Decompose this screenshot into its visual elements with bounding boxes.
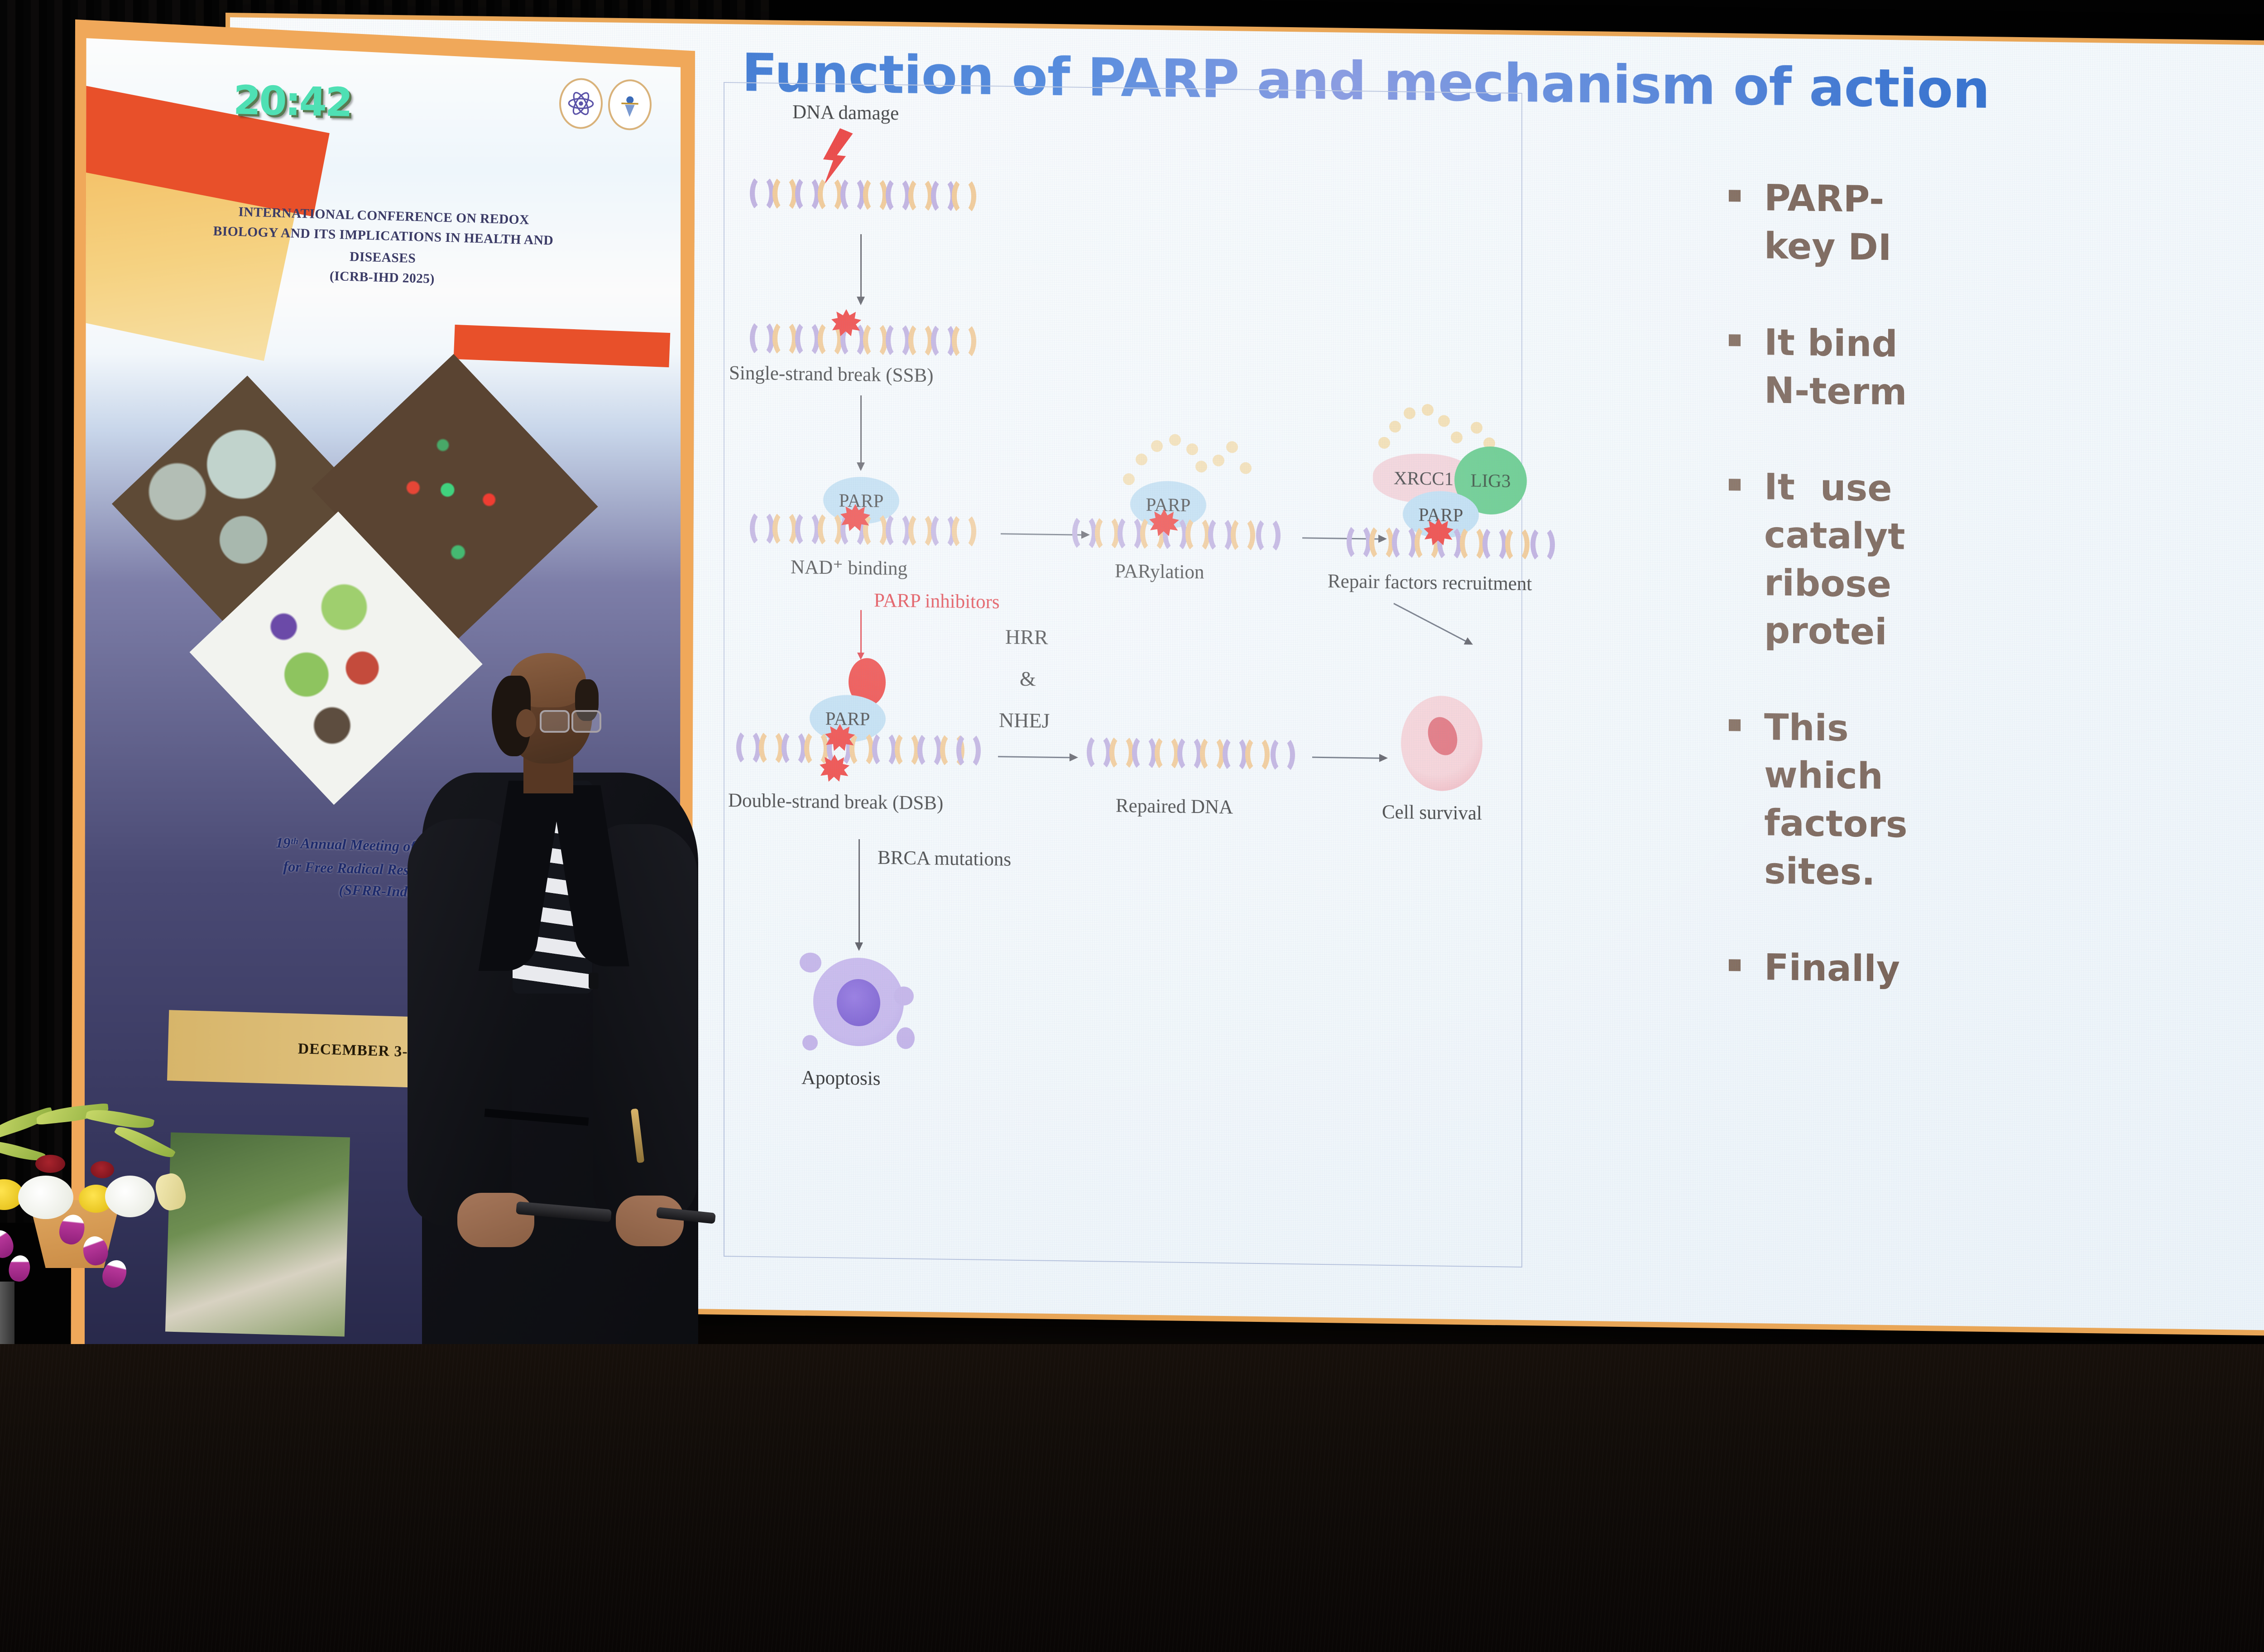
stage-floor — [0, 1344, 2264, 1652]
square-bullet-icon — [1729, 190, 1741, 202]
atom-logo-icon — [558, 77, 603, 128]
apoptotic-cell-icon — [813, 957, 904, 1047]
flower-arrangement — [0, 1087, 208, 1377]
label-brca-mutations: BRCA mutations — [878, 847, 1011, 871]
dna-helix-dsb — [736, 728, 981, 770]
list-item: It use catalyt ribose protei — [1729, 463, 2264, 664]
csir-emblem-icon — [607, 78, 652, 130]
label-dsb: Double-strand break (DSB) — [728, 789, 943, 814]
label-dna-damage: DNA damage — [792, 101, 899, 125]
speaker-eyeglasses — [540, 710, 599, 730]
label-repaired-dna: Repaired DNA — [1116, 795, 1233, 819]
arrow-inhibitor — [860, 610, 862, 653]
label-ampersand: & — [1020, 667, 1036, 691]
square-bullet-icon — [1729, 719, 1741, 731]
arrow-repaired-to-survival — [1312, 757, 1380, 759]
speaker-lapel-mic — [589, 973, 599, 989]
flower-white — [105, 1176, 155, 1217]
speaker-ear — [516, 709, 536, 737]
flower-white — [18, 1176, 73, 1219]
dna-helix-ssb — [750, 319, 976, 361]
flower-red — [35, 1155, 65, 1173]
list-item: This which factors sites. — [1729, 703, 2264, 904]
square-bullet-icon — [1729, 479, 1741, 491]
poster-title: INTERNATIONAL CONFERENCE ON REDOX BIOLOG… — [107, 197, 658, 294]
poster-red-band-secondary — [454, 325, 670, 367]
bullet-text: This which factors sites. — [1764, 703, 1907, 897]
dna-helix-repaired — [1087, 733, 1295, 774]
label-parylation: PARylation — [1115, 560, 1204, 584]
parp-mechanism-diagram: DNA damage Single-strand break (SSB) PAR… — [724, 82, 1522, 1268]
label-hrr: HRR — [1005, 624, 1048, 649]
list-item: It bind N-term — [1729, 318, 2264, 423]
list-item: Finally — [1729, 943, 2264, 1000]
label-nad-binding: NAD⁺ binding — [791, 556, 907, 580]
square-bullet-icon — [1729, 334, 1741, 346]
arrow-repair-to-survival — [1393, 603, 1467, 642]
arrow-dsb-to-repaired — [998, 756, 1070, 758]
bullet-text: Finally — [1764, 943, 1900, 993]
label-cell-survival: Cell survival — [1382, 801, 1482, 825]
label-parp-inhibitors: PARP inhibitors — [874, 589, 1000, 613]
label-repair-factors: Repair factors recruitment — [1328, 570, 1532, 595]
list-item: PARP- key DI — [1729, 173, 2264, 279]
arrow-dsb-to-apoptosis — [859, 839, 860, 943]
label-apoptosis: Apoptosis — [801, 1066, 880, 1090]
flower-red — [91, 1161, 114, 1178]
speaker-hand-right — [616, 1196, 684, 1246]
bullet-text: It bind N-term — [1764, 318, 1907, 416]
label-ssb: Single-strand break (SSB) — [729, 362, 933, 387]
stage-scene: Function of PARP and mechanism of action… — [0, 0, 2264, 1652]
bullet-text: It use catalyt ribose protei — [1764, 463, 1905, 657]
poster-clock: 20:42 — [233, 80, 351, 127]
flower-orchid — [7, 1253, 32, 1283]
poster-logos — [558, 77, 652, 130]
arrow-ssb-to-nad — [860, 395, 862, 463]
flower-ribbon — [153, 1171, 189, 1213]
dna-helix-intact — [750, 174, 976, 216]
speaker-hand-left — [457, 1193, 534, 1247]
bullet-text: PARP- key DI — [1764, 174, 1891, 271]
square-bullet-icon — [1729, 959, 1741, 971]
label-nhej: NHEJ — [999, 708, 1050, 733]
surviving-cell-icon — [1401, 695, 1482, 791]
arrow-nad-to-parylation — [1001, 533, 1082, 535]
slide-bullet-list: PARP- key DI It bind N-term It use catal… — [1729, 173, 2264, 1050]
flower-orchid — [0, 1227, 17, 1261]
arrow-damage-to-ssb — [860, 234, 862, 298]
